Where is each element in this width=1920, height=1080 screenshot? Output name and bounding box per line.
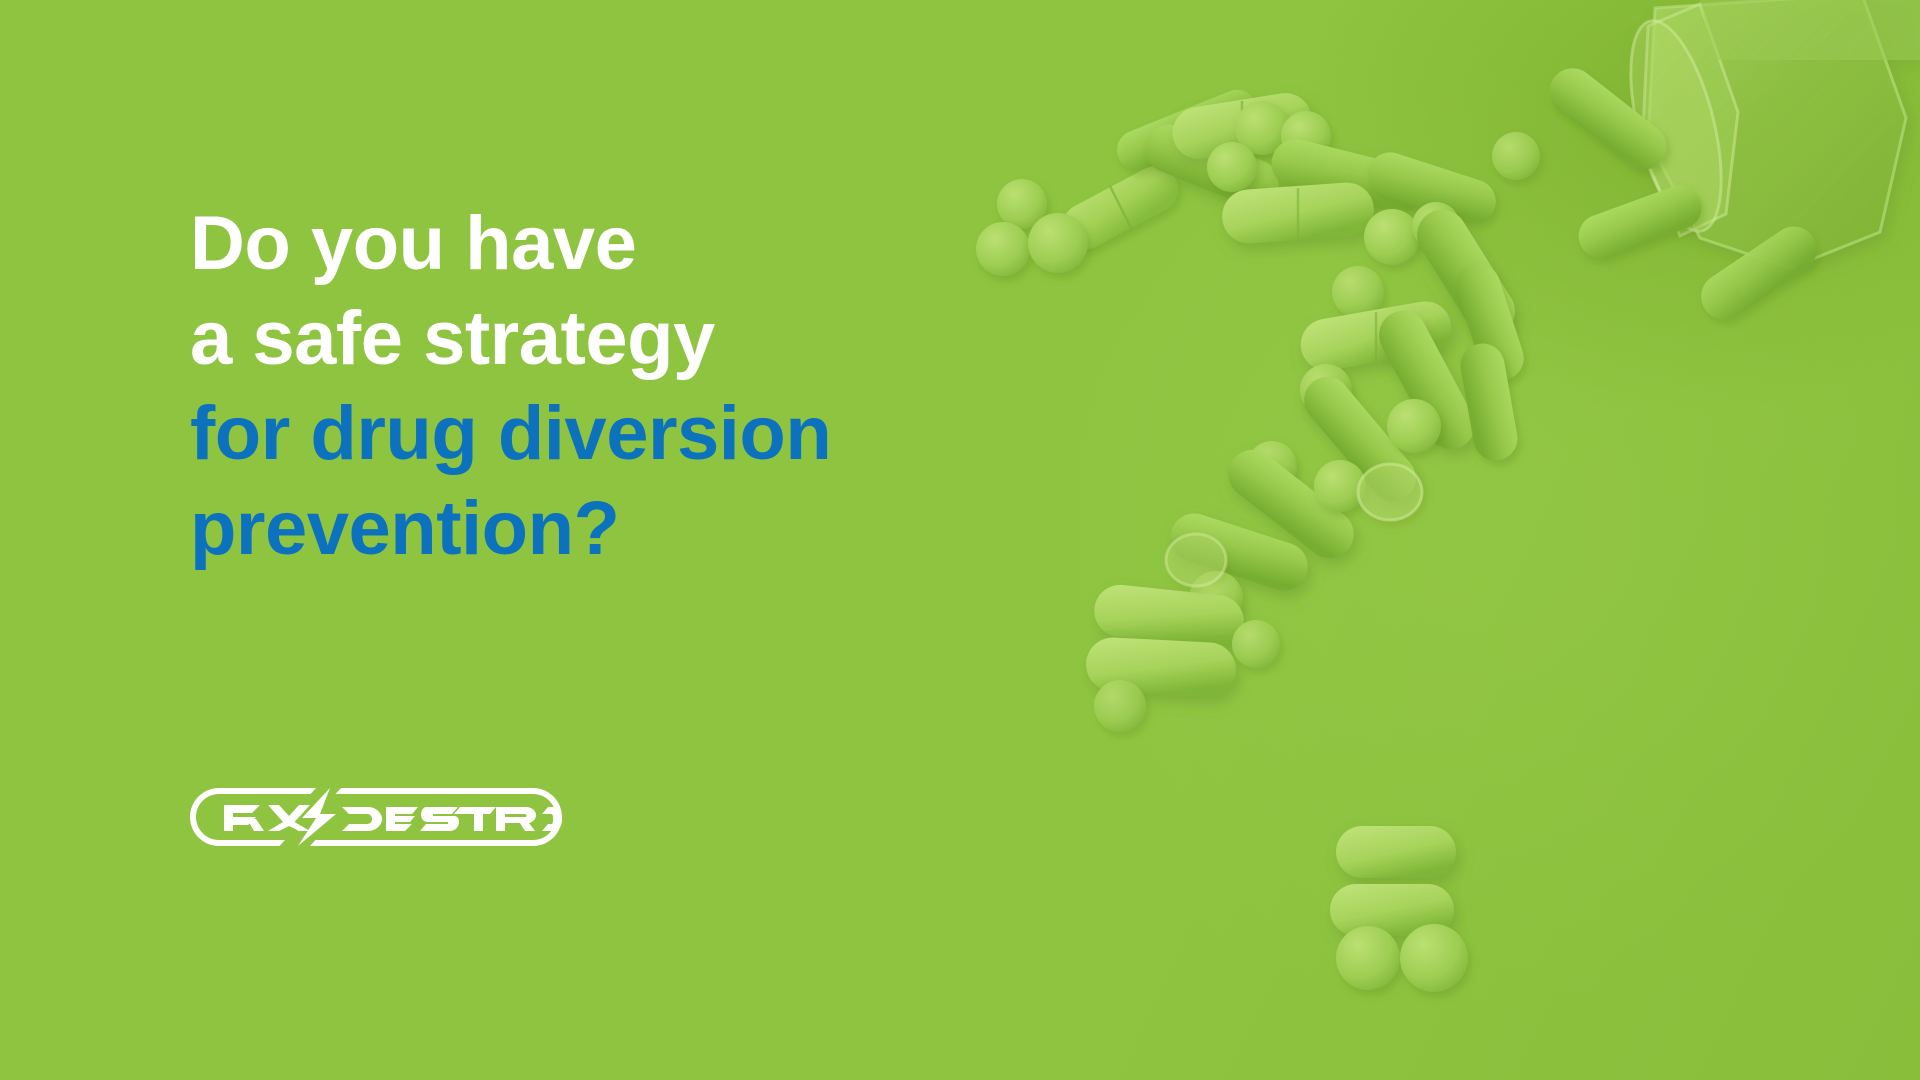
- question-mark-pills: [976, 59, 1826, 992]
- rx-destroyer-logo[interactable]: [190, 788, 562, 846]
- logo-destroyer-text: [342, 807, 562, 831]
- logo-rx-text: [224, 805, 310, 831]
- headline-line-3: for drug diversion: [190, 386, 1050, 481]
- photo-vignette: [920, 0, 1920, 1080]
- pill-bottle: [1613, 0, 1920, 268]
- headline: Do you have a safe strategy for drug div…: [190, 196, 1050, 576]
- headline-line-4: prevention?: [190, 481, 1050, 576]
- logo-lightning-bolt: [298, 788, 336, 846]
- question-mark-dot: [1330, 826, 1468, 992]
- headline-line-1: Do you have: [190, 196, 1050, 291]
- headline-line-2: a safe strategy: [190, 291, 1050, 386]
- marketing-banner: Do you have a safe strategy for drug div…: [0, 0, 1920, 1080]
